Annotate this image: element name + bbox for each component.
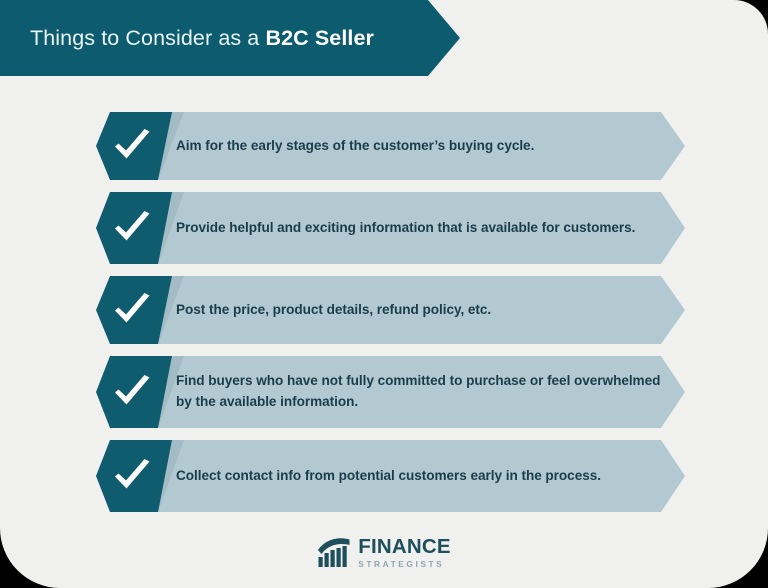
consideration-list: Aim for the early stages of the customer… <box>0 112 768 524</box>
brand-logo: FINANCE STRATEGISTS <box>0 537 768 568</box>
list-item: Collect contact info from potential cust… <box>0 440 768 512</box>
finance-strategists-chart-icon <box>317 537 351 568</box>
check-icon <box>110 126 154 166</box>
list-item: Post the price, product details, refund … <box>0 276 768 344</box>
list-item-label: Provide helpful and exciting information… <box>176 192 668 264</box>
logo-name: FINANCE <box>358 537 451 558</box>
list-item-label: Post the price, product details, refund … <box>176 276 668 344</box>
check-icon <box>110 290 154 330</box>
list-item-label: Find buyers who have not fully committed… <box>176 356 668 428</box>
page-title-bold: B2C Seller <box>265 26 374 50</box>
logo-text: FINANCE STRATEGISTS <box>358 537 451 568</box>
list-item-label: Aim for the early stages of the customer… <box>176 112 668 180</box>
list-item: Find buyers who have not fully committed… <box>0 356 768 428</box>
page-title: Things to Consider as a B2C Seller <box>30 26 374 51</box>
page-title-regular: Things to Consider as a <box>30 26 265 50</box>
check-icon <box>110 208 154 248</box>
list-item: Aim for the early stages of the customer… <box>0 112 768 180</box>
header-banner: Things to Consider as a B2C Seller <box>0 0 460 76</box>
infographic-canvas: Things to Consider as a B2C Seller Aim f… <box>0 0 768 588</box>
check-icon <box>110 456 154 496</box>
logo-tagline: STRATEGISTS <box>358 560 451 568</box>
content-card: Things to Consider as a B2C Seller Aim f… <box>0 0 768 588</box>
list-item: Provide helpful and exciting information… <box>0 192 768 264</box>
list-item-label: Collect contact info from potential cust… <box>176 440 668 512</box>
check-icon <box>110 372 154 412</box>
